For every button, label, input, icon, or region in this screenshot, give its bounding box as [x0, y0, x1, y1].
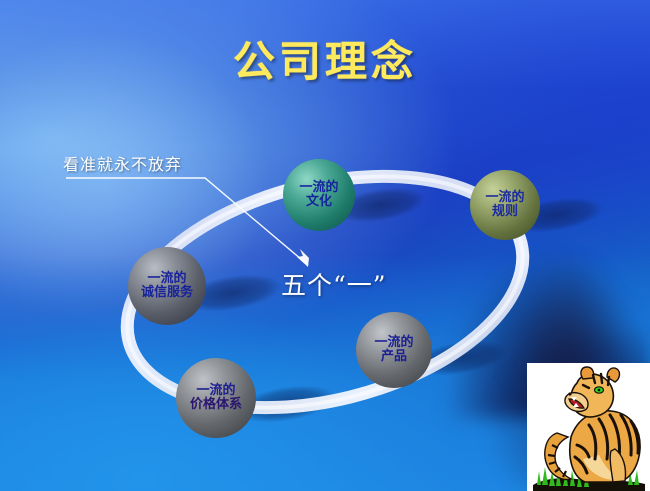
sphere-product-line2: 产品 [381, 350, 407, 364]
sphere-rule-line2: 规则 [492, 205, 518, 219]
center-concept-label: 五个“一” [281, 266, 387, 302]
sphere-service-line1: 一流的 [147, 272, 186, 286]
presentation-slide: 公司理念 [0, 0, 650, 491]
sphere-culture-line1: 一流的 [299, 181, 338, 195]
sphere-culture[interactable]: 一流的 文化 [283, 159, 355, 231]
tiger-image [527, 363, 650, 491]
sphere-price[interactable]: 一流的 价格体系 [176, 358, 256, 438]
sphere-culture-line2: 文化 [306, 195, 332, 209]
sphere-price-line2: 价格体系 [190, 398, 242, 412]
sphere-product[interactable]: 一流的 产品 [356, 312, 432, 388]
sphere-rule[interactable]: 一流的 规则 [470, 170, 540, 240]
tiger-illustration-icon [527, 363, 650, 491]
sphere-rule-line1: 一流的 [485, 191, 524, 205]
sphere-service-line2: 诚信服务 [141, 286, 193, 300]
sphere-product-line1: 一流的 [374, 336, 413, 350]
sphere-price-line1: 一流的 [196, 384, 235, 398]
callout-text: 看准就永不放弃 [63, 151, 182, 175]
sphere-service[interactable]: 一流的 诚信服务 [128, 247, 206, 325]
